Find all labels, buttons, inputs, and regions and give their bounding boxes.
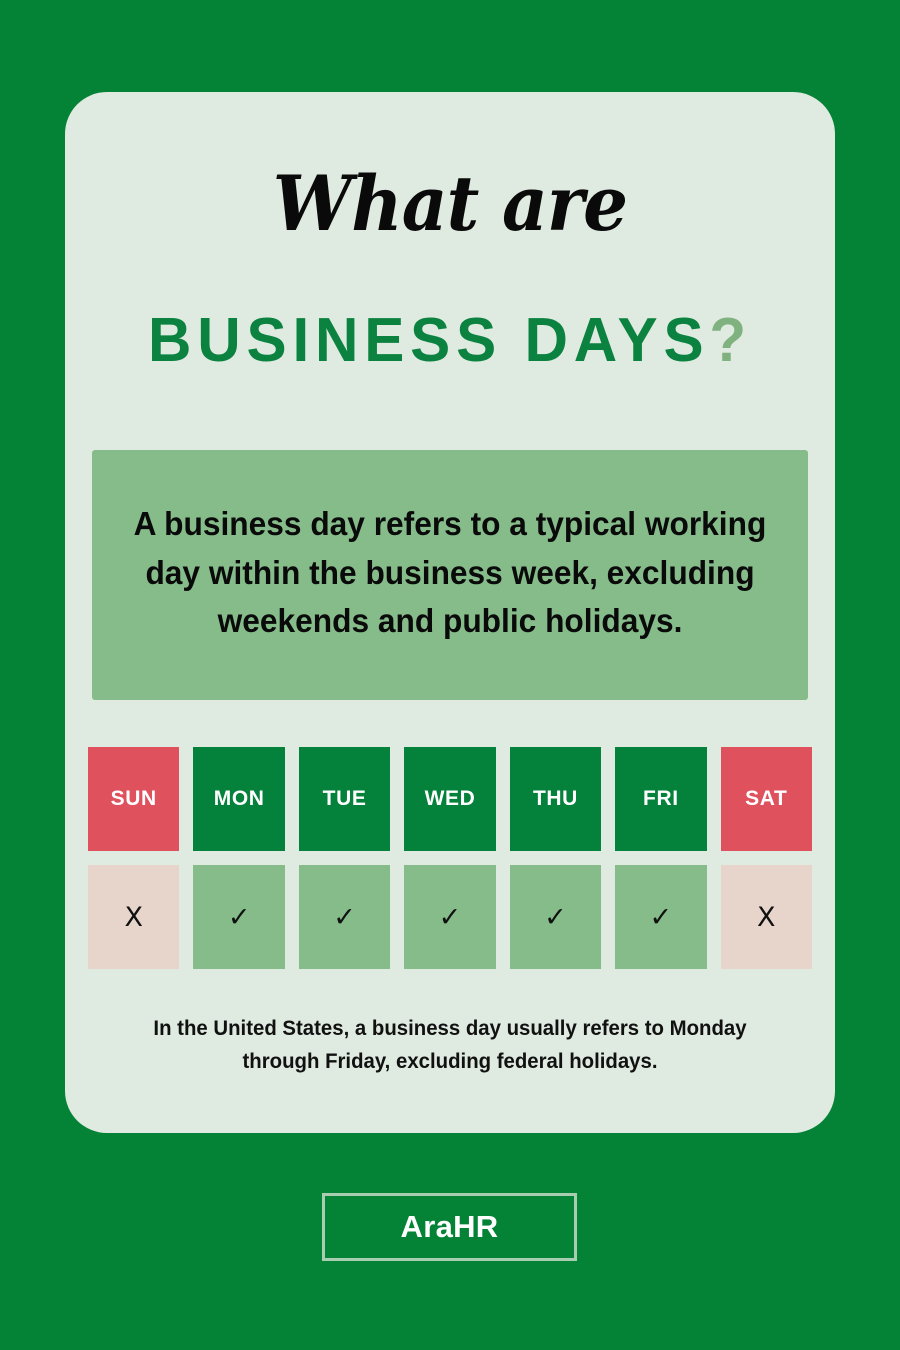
day-status-sun: X xyxy=(88,865,179,969)
poster-canvas: What are BUSINESS DAYS? A business day r… xyxy=(0,0,900,1350)
footnote-text: In the United States, a business day usu… xyxy=(115,1012,784,1078)
day-header-tue: TUE xyxy=(299,747,390,851)
day-label: SUN xyxy=(111,787,157,811)
day-label: TUE xyxy=(323,787,367,811)
brand-name: AraHR xyxy=(401,1209,499,1245)
week-grid: SUN MON TUE WED THU FRI SAT X ✓ ✓ ✓ ✓ ✓ … xyxy=(88,747,812,969)
day-status-tue: ✓ xyxy=(299,865,390,969)
day-header-sun: SUN xyxy=(88,747,179,851)
x-icon: X xyxy=(124,902,143,933)
headline-script: What are xyxy=(92,166,808,242)
day-header-thu: THU xyxy=(510,747,601,851)
day-header-sat: SAT xyxy=(721,747,812,851)
day-label: MON xyxy=(214,787,265,811)
day-header-wed: WED xyxy=(404,747,495,851)
content-card: What are BUSINESS DAYS? A business day r… xyxy=(65,92,835,1133)
check-icon: ✓ xyxy=(333,902,356,933)
day-status-mon: ✓ xyxy=(193,865,284,969)
headline-question-mark: ? xyxy=(709,306,752,375)
check-icon: ✓ xyxy=(439,902,462,933)
day-status-wed: ✓ xyxy=(404,865,495,969)
brand-logo: AraHR xyxy=(322,1193,577,1261)
day-status-sat: X xyxy=(721,865,812,969)
check-icon: ✓ xyxy=(228,902,251,933)
day-status-thu: ✓ xyxy=(510,865,601,969)
day-label: SAT xyxy=(745,787,787,811)
definition-text: A business day refers to a typical worki… xyxy=(129,500,770,646)
headline-bold-text: BUSINESS DAYS xyxy=(148,306,709,375)
x-icon: X xyxy=(757,902,776,933)
check-icon: ✓ xyxy=(650,902,673,933)
day-label: WED xyxy=(425,787,476,811)
day-status-fri: ✓ xyxy=(615,865,706,969)
headline-bold: BUSINESS DAYS? xyxy=(77,310,824,372)
definition-panel: A business day refers to a typical worki… xyxy=(92,450,808,700)
check-icon: ✓ xyxy=(544,902,567,933)
day-label: FRI xyxy=(643,787,679,811)
day-label: THU xyxy=(533,787,578,811)
day-header-mon: MON xyxy=(193,747,284,851)
day-header-fri: FRI xyxy=(615,747,706,851)
